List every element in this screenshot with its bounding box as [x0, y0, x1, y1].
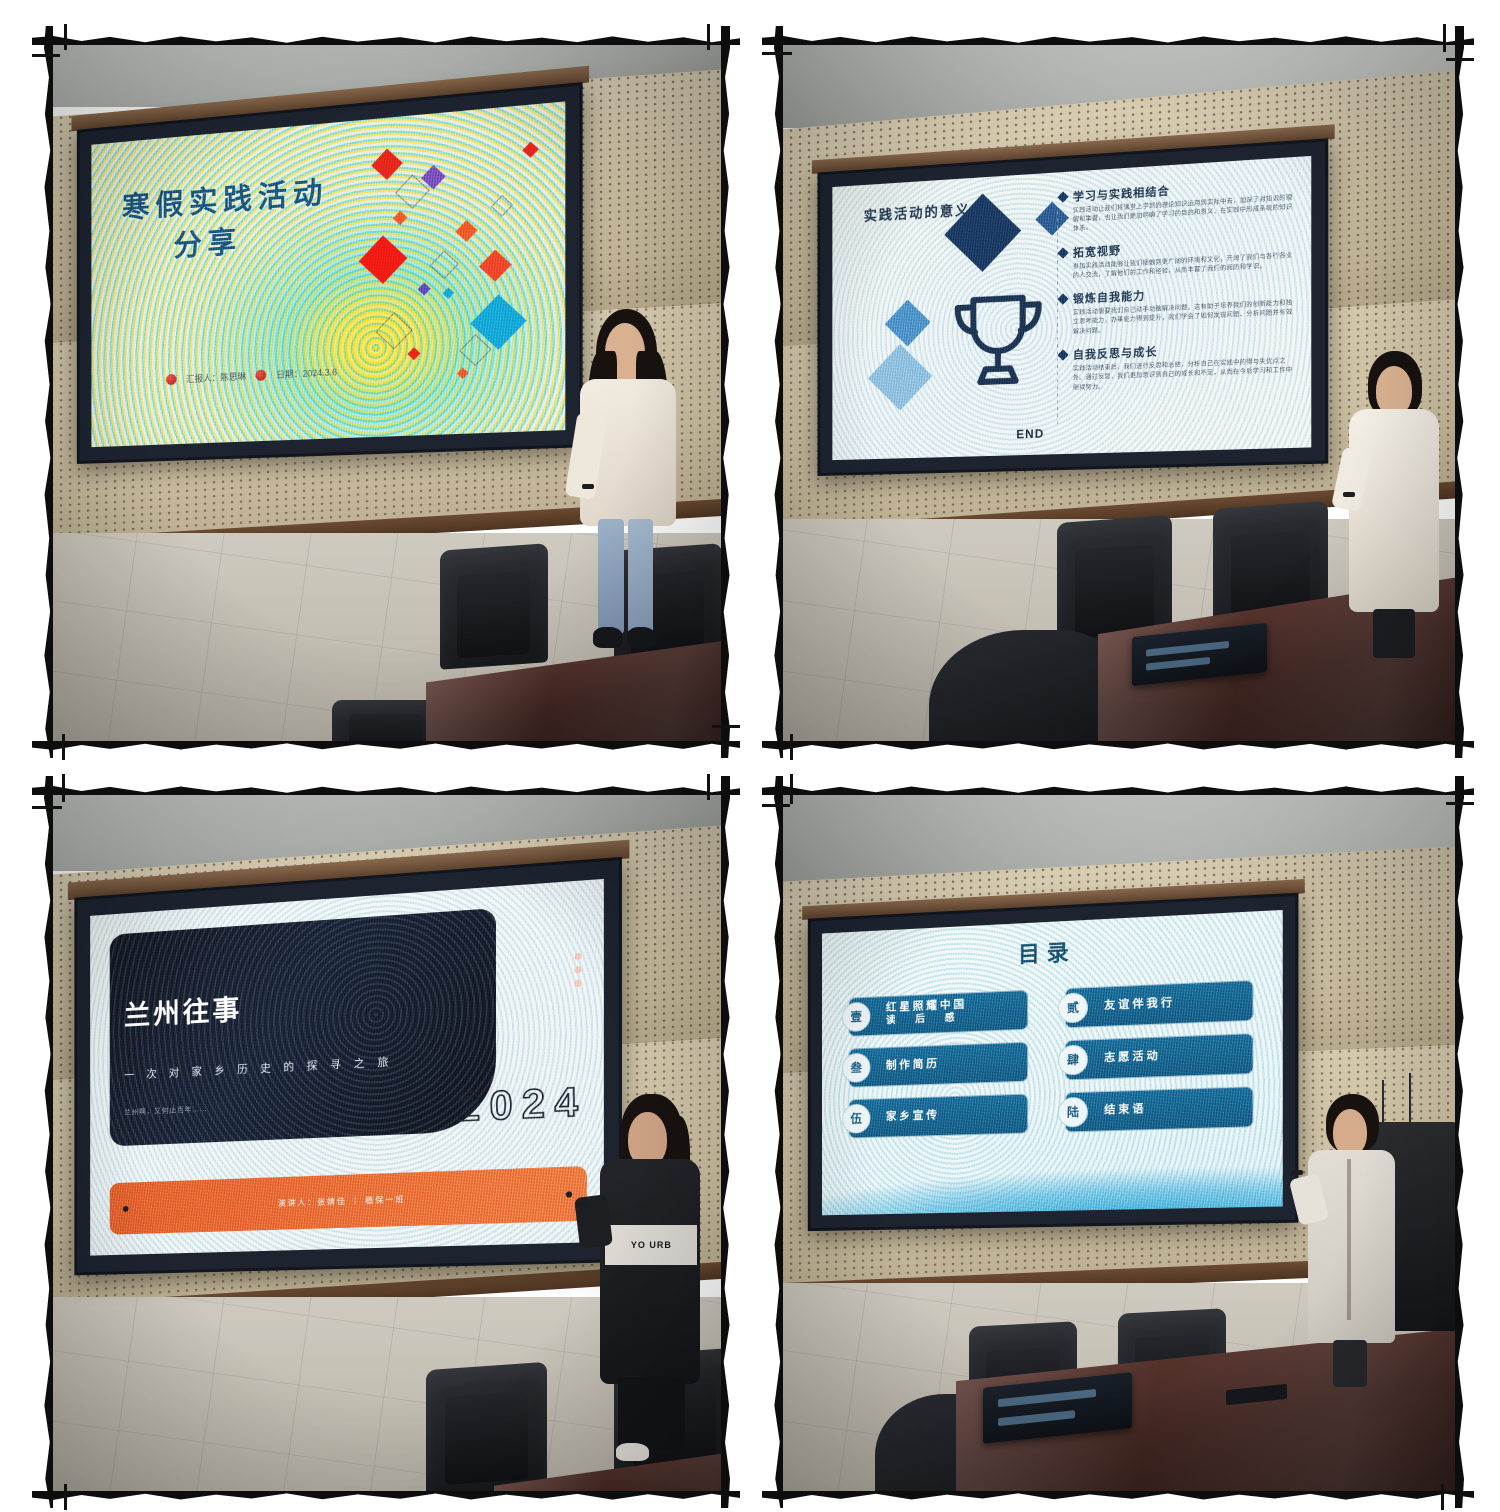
diamond-bullet-icon — [1057, 349, 1068, 360]
collage-panel-bottom-right[interactable]: 目录 壹 红星照耀中国读 后 感 贰 友谊伴我行 — [768, 780, 1468, 1504]
toc-number: 贰 — [1058, 991, 1088, 1022]
toc-item: 贰 友谊伴我行 — [1065, 979, 1254, 1027]
toc-item: 叁 制作简历 — [849, 1041, 1029, 1087]
diamond-bullet-icon — [1057, 191, 1068, 202]
collage-panel-top-right[interactable]: 实践活动的意义 — [768, 30, 1468, 754]
chair — [440, 543, 548, 669]
led-screen: 目录 壹 红星照耀中国读 后 感 贰 友谊伴我行 — [808, 892, 1299, 1231]
bullet-item: 自我反思与成长 实践活动结束后，我们进行反思和总结，分析自己在实践中的得与失优点… — [1059, 337, 1296, 394]
conference-room: 目录 壹 红星照耀中国读 后 感 贰 友谊伴我行 — [780, 794, 1456, 1492]
slide-cover-winter-practice: 寒假实践活动 分享 — [92, 102, 566, 447]
toc-item: 伍 家乡宣传 — [849, 1093, 1029, 1138]
slide-table-of-contents: 目录 壹 红星照耀中国读 后 感 贰 友谊伴我行 — [823, 910, 1284, 1215]
bullet-item: 学习与实践相结合 实践活动让我们将课堂上学到的理论知识运用到实际中去，加深了对知… — [1059, 174, 1296, 236]
toc-number: 肆 — [1058, 1044, 1088, 1075]
collage-panel-bottom-left[interactable]: 兰州往事 一 次 对 家 乡 历 史 的 探 寻 之 旅 兰州啊，又何止百年……… — [38, 780, 734, 1504]
led-screen: 实践活动的意义 — [818, 138, 1329, 476]
presenter — [1294, 1094, 1409, 1387]
slide-footer-bar: 演讲人：张婧佳 ｜ 植保一班 — [110, 1166, 588, 1234]
hoodie-text: YO URB — [608, 1228, 695, 1261]
toc-number: 陆 — [1058, 1096, 1088, 1127]
toc-number: 壹 — [842, 1001, 871, 1032]
slide-meta: 汇报人：陈思琳 日期：2024.3.6 — [167, 365, 338, 386]
presenter — [1334, 351, 1456, 658]
slide-title: 兰州往事 — [124, 988, 242, 1034]
date-label: 日期：2024.3.6 — [277, 365, 338, 381]
slide-title: 目录 — [823, 924, 1284, 978]
microphone-icon — [1409, 1073, 1411, 1136]
slide-footer: 演讲人：张婧佳 ｜ 植保一班 — [278, 1194, 406, 1209]
photo-top-left: 寒假实践活动 分享 — [50, 44, 722, 742]
bullet-item: 拓宽视野 参加实践活动能够让我们接触到更广阔的环境和文化，开阔了我们与各行各业的… — [1059, 231, 1296, 282]
toc-number: 叁 — [842, 1052, 871, 1082]
end-label: END — [1016, 427, 1044, 442]
toc-item: 壹 红星照耀中国读 后 感 — [849, 989, 1029, 1036]
presenter-label: 汇报人：陈思琳 — [187, 369, 247, 385]
photo-bottom-left: 兰州往事 一 次 对 家 乡 历 史 的 探 寻 之 旅 兰州啊，又何止百年……… — [50, 794, 722, 1492]
toc-list: 壹 红星照耀中国读 后 感 贰 友谊伴我行 叁 制作简历 — [849, 979, 1254, 1138]
photo-top-right: 实践活动的意义 — [780, 44, 1456, 742]
person-badge-icon — [167, 374, 177, 385]
toc-label: 志愿活动 — [1104, 1049, 1161, 1065]
slide-title: 寒假实践活动 分享 — [122, 165, 390, 271]
chevron-arrows-icon — [120, 1209, 186, 1224]
clock-badge-icon — [256, 369, 267, 380]
toc-label: 制作简历 — [886, 1057, 940, 1072]
led-screen: 兰州往事 一 次 对 家 乡 历 史 的 探 寻 之 旅 兰州啊，又何止百年……… — [75, 857, 623, 1275]
toc-label: 结束语 — [1104, 1102, 1146, 1117]
chair — [332, 700, 440, 742]
collage-panel-top-left[interactable]: 寒假实践活动 分享 — [38, 30, 734, 754]
slide-year: 2024 — [458, 1079, 588, 1131]
toc-sublabel: 读 后 感 — [886, 1012, 967, 1028]
dots-decoration-icon — [575, 952, 582, 993]
conference-room: 实践活动的意义 — [780, 44, 1456, 742]
photo-bottom-right: 目录 壹 红星照耀中国读 后 感 贰 友谊伴我行 — [780, 794, 1456, 1492]
presenter: YO URB — [588, 1094, 716, 1457]
toc-number: 伍 — [842, 1103, 871, 1133]
bullet-item: 锻炼自我能力 实践活动需要我们自己动手动脑解决问题，这有助于培养我们的创新能力和… — [1059, 280, 1296, 338]
toc-item: 肆 志愿活动 — [1065, 1032, 1254, 1079]
bullet-list: 学习与实践相结合 实践活动让我们将课堂上学到的理论知识运用到实际中去，加深了对知… — [1059, 174, 1296, 403]
toc-label: 友谊伴我行 — [1104, 996, 1175, 1013]
trophy-icon — [942, 285, 1055, 397]
led-screen: 寒假实践活动 分享 — [77, 82, 582, 464]
toc-label: 家乡宣传 — [886, 1109, 940, 1124]
slide-meaning-of-practice: 实践活动的意义 — [832, 155, 1311, 460]
slide-cover-lanzhou: 兰州往事 一 次 对 家 乡 历 史 的 探 寻 之 旅 兰州啊，又何止百年……… — [91, 878, 605, 1256]
chair — [426, 1362, 547, 1492]
diamond-bullet-icon — [1057, 293, 1068, 304]
photo-collage: 寒假实践活动 分享 — [0, 0, 1500, 1512]
diamond-bullet-icon — [1057, 247, 1068, 258]
presenter — [561, 309, 695, 658]
conference-room: 寒假实践活动 分享 — [50, 44, 722, 742]
conference-room: 兰州往事 一 次 对 家 乡 历 史 的 探 寻 之 旅 兰州啊，又何止百年……… — [50, 794, 722, 1492]
toc-item: 陆 结束语 — [1065, 1085, 1254, 1131]
toc-label: 红星照耀中国 — [886, 998, 967, 1013]
